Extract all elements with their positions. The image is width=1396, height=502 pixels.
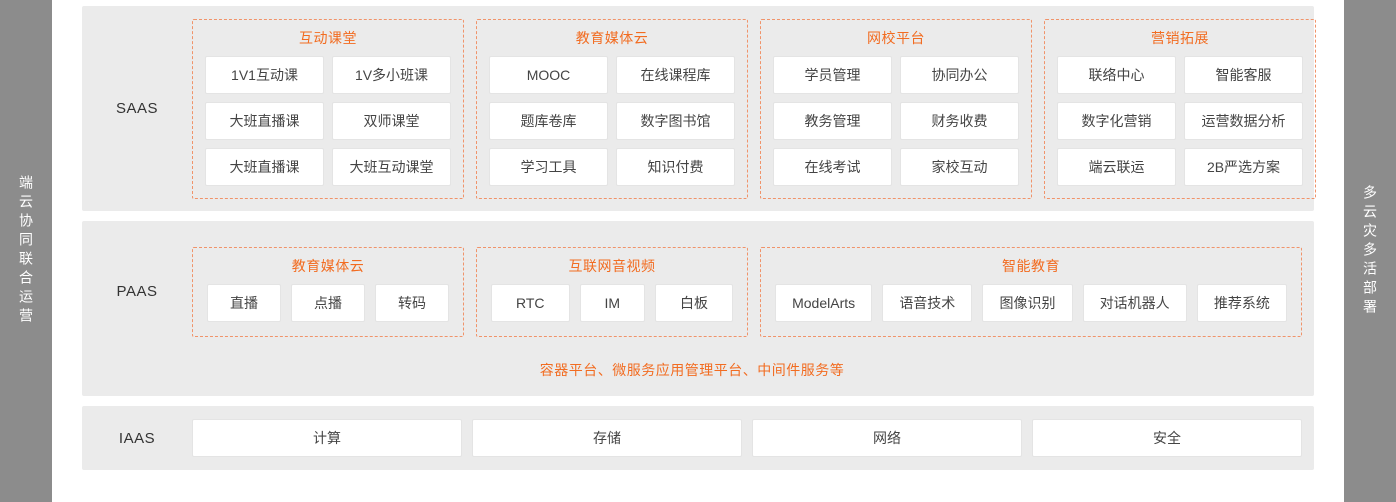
tile-item[interactable]: 学习工具	[489, 148, 608, 186]
group-title: 智能教育	[775, 256, 1287, 276]
tile-item[interactable]: 大班互动课堂	[332, 148, 451, 186]
side-bar-left-label: 端云协同联合运营	[14, 175, 38, 327]
tile-item[interactable]: IM	[580, 284, 646, 322]
tile-item[interactable]: 智能客服	[1184, 56, 1303, 94]
group-saas-interactive-classroom: 互动课堂 1V1互动课 1V多小班课 大班直播课 双师课堂 大班直播课 大班互动…	[192, 19, 464, 199]
tile-item[interactable]: 1V1互动课	[205, 56, 324, 94]
group-tiles: 1V1互动课 1V多小班课 大班直播课 双师课堂 大班直播课 大班互动课堂	[205, 56, 451, 186]
group-title: 教育媒体云	[207, 256, 449, 276]
tile-item[interactable]: 教务管理	[773, 102, 892, 140]
group-saas-education-media-cloud: 教育媒体云 MOOC 在线课程库 题库卷库 数字图书馆 学习工具 知识付费	[476, 19, 748, 199]
group-saas-online-school-platform: 网校平台 学员管理 协同办公 教务管理 财务收费 在线考试 家校互动	[760, 19, 1032, 199]
tile-item[interactable]: 财务收费	[900, 102, 1019, 140]
paas-footnote: 容器平台、微服务应用管理平台、中间件服务等	[82, 352, 1302, 386]
tile-item[interactable]: 在线课程库	[616, 56, 735, 94]
tile-item[interactable]: 点播	[291, 284, 365, 322]
layer-paas-body: 教育媒体云 直播 点播 转码 互联网音视频 RTC IM 白板	[192, 247, 1302, 337]
group-paas-education-media-cloud: 教育媒体云 直播 点播 转码	[192, 247, 464, 337]
tile-item[interactable]: 图像识别	[982, 284, 1072, 322]
group-saas-marketing-expansion: 营销拓展 联络中心 智能客服 数字化营销 运营数据分析 端云联运 2B严选方案	[1044, 19, 1316, 199]
tile-item[interactable]: 在线考试	[773, 148, 892, 186]
group-title: 网校平台	[773, 28, 1019, 48]
tile-item[interactable]: 题库卷库	[489, 102, 608, 140]
tile-item[interactable]: MOOC	[489, 56, 608, 94]
tile-item[interactable]: 学员管理	[773, 56, 892, 94]
tile-item[interactable]: ModelArts	[775, 284, 872, 322]
layer-saas: SAAS 互动课堂 1V1互动课 1V多小班课 大班直播课 双师课堂 大班直播课…	[82, 6, 1314, 211]
side-bar-right: 多云灾多活部署	[1344, 0, 1396, 502]
tile-item[interactable]: 知识付费	[616, 148, 735, 186]
tile-item[interactable]: 转码	[375, 284, 449, 322]
tile-item[interactable]: 安全	[1032, 419, 1302, 457]
layer-iaas-body: 计算 存储 网络 安全	[192, 419, 1302, 457]
group-title: 营销拓展	[1057, 28, 1303, 48]
tile-item[interactable]: 直播	[207, 284, 281, 322]
layer-paas-top: PAAS 教育媒体云 直播 点播 转码 互联网音视频 RTC	[82, 231, 1302, 352]
group-tiles: 直播 点播 转码	[207, 284, 449, 322]
diagram-content: SAAS 互动课堂 1V1互动课 1V多小班课 大班直播课 双师课堂 大班直播课…	[66, 0, 1330, 502]
tile-item[interactable]: 家校互动	[900, 148, 1019, 186]
group-title: 互动课堂	[205, 28, 451, 48]
group-tiles: MOOC 在线课程库 题库卷库 数字图书馆 学习工具 知识付费	[489, 56, 735, 186]
tile-item[interactable]: 协同办公	[900, 56, 1019, 94]
layer-paas-label: PAAS	[82, 283, 192, 300]
tile-item[interactable]: 推荐系统	[1197, 284, 1287, 322]
side-bar-right-label: 多云灾多活部署	[1358, 185, 1382, 318]
group-paas-intelligent-education: 智能教育 ModelArts 语音技术 图像识别 对话机器人 推荐系统	[760, 247, 1302, 337]
layer-iaas: IAAS 计算 存储 网络 安全	[82, 406, 1314, 470]
group-title: 教育媒体云	[489, 28, 735, 48]
tile-item[interactable]: 端云联运	[1057, 148, 1176, 186]
group-tiles: RTC IM 白板	[491, 284, 733, 322]
tile-item[interactable]: 2B严选方案	[1184, 148, 1303, 186]
tile-item[interactable]: 大班直播课	[205, 102, 324, 140]
tile-item[interactable]: 大班直播课	[205, 148, 324, 186]
group-tiles: 学员管理 协同办公 教务管理 财务收费 在线考试 家校互动	[773, 56, 1019, 186]
side-bar-left: 端云协同联合运营	[0, 0, 52, 502]
tile-item[interactable]: 数字化营销	[1057, 102, 1176, 140]
group-paas-internet-audio-video: 互联网音视频 RTC IM 白板	[476, 247, 748, 337]
tile-item[interactable]: 语音技术	[882, 284, 972, 322]
tile-item[interactable]: 白板	[655, 284, 733, 322]
tile-item[interactable]: 对话机器人	[1083, 284, 1187, 322]
tile-item[interactable]: RTC	[491, 284, 570, 322]
tile-item[interactable]: 存储	[472, 419, 742, 457]
tile-item[interactable]: 双师课堂	[332, 102, 451, 140]
tile-item[interactable]: 数字图书馆	[616, 102, 735, 140]
tile-item[interactable]: 计算	[192, 419, 462, 457]
group-tiles: 联络中心 智能客服 数字化营销 运营数据分析 端云联运 2B严选方案	[1057, 56, 1303, 186]
layer-paas: PAAS 教育媒体云 直播 点播 转码 互联网音视频 RTC	[82, 221, 1314, 396]
layer-iaas-label: IAAS	[82, 430, 192, 447]
tile-item[interactable]: 网络	[752, 419, 1022, 457]
group-title: 互联网音视频	[491, 256, 733, 276]
tile-item[interactable]: 运营数据分析	[1184, 102, 1303, 140]
tile-item[interactable]: 联络中心	[1057, 56, 1176, 94]
architecture-diagram: 端云协同联合运营 多云灾多活部署 SAAS 互动课堂 1V1互动课 1V多小班课…	[0, 0, 1396, 502]
group-tiles: ModelArts 语音技术 图像识别 对话机器人 推荐系统	[775, 284, 1287, 322]
layer-saas-body: 互动课堂 1V1互动课 1V多小班课 大班直播课 双师课堂 大班直播课 大班互动…	[192, 19, 1316, 199]
tile-item[interactable]: 1V多小班课	[332, 56, 451, 94]
layer-saas-label: SAAS	[82, 100, 192, 117]
